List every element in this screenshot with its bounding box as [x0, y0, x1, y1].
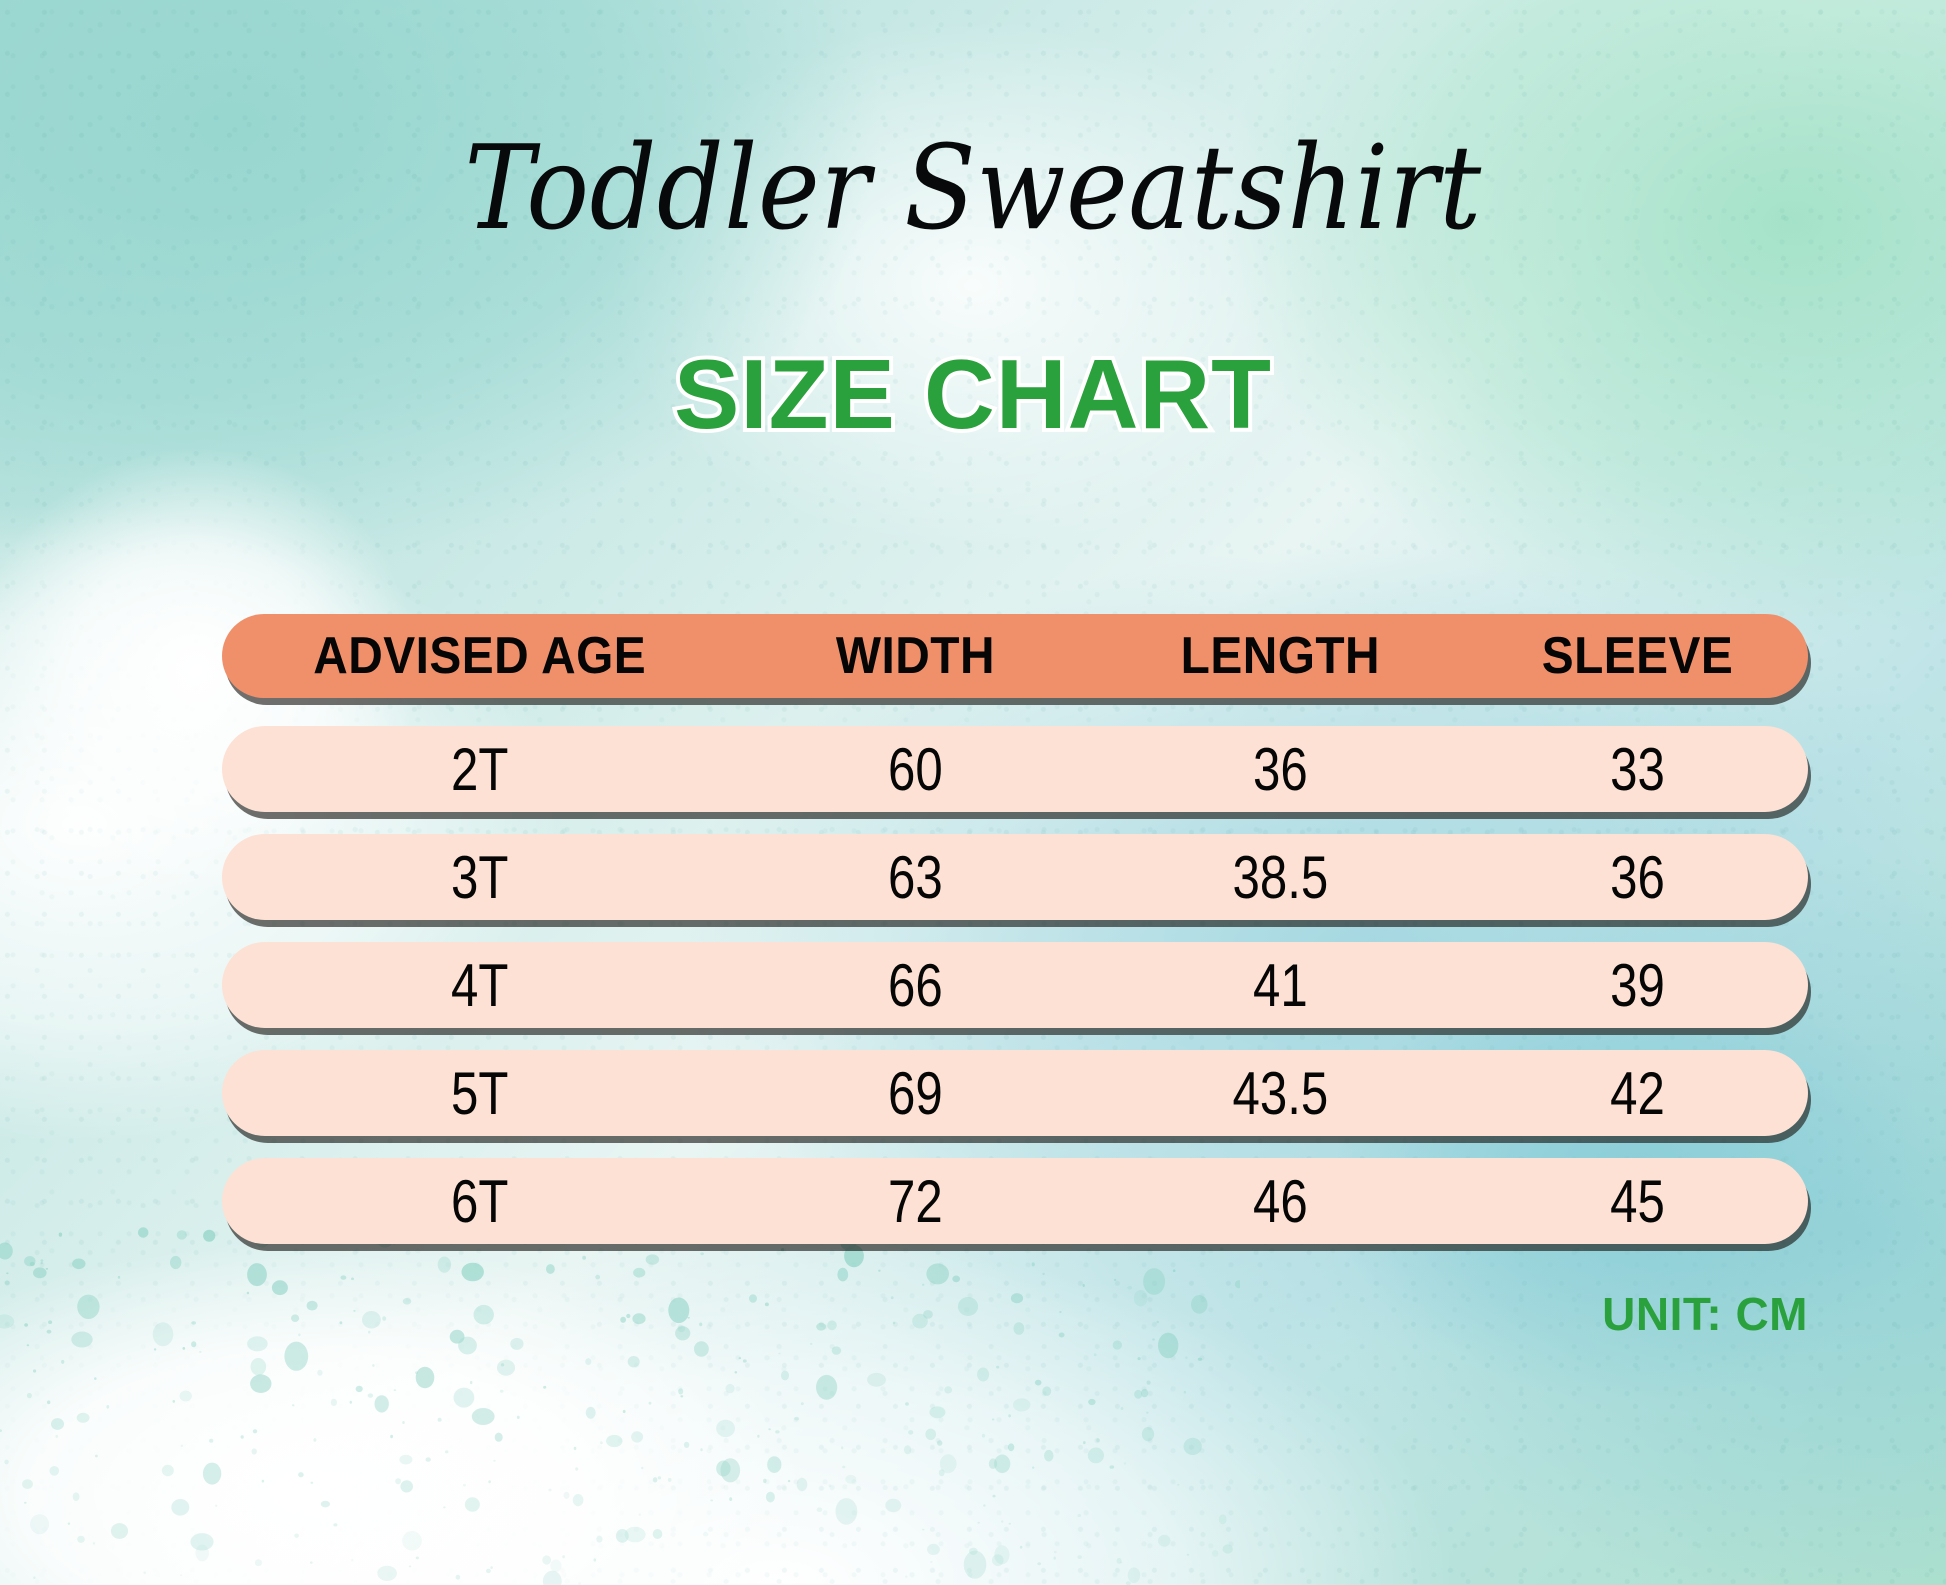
column-header-length: LENGTH	[1109, 626, 1452, 686]
cell-length: 38.5	[1128, 843, 1434, 912]
column-header-width: WIDTH	[752, 626, 1080, 686]
cell-advised-age: 5T	[268, 1059, 691, 1128]
cell-length: 36	[1128, 735, 1434, 804]
cell-advised-age: 2T	[268, 735, 691, 804]
cell-advised-age: 6T	[268, 1167, 691, 1236]
cell-width: 66	[770, 951, 1063, 1020]
cell-width: 72	[770, 1167, 1063, 1236]
cell-sleeve: 42	[1498, 1059, 1778, 1128]
cell-sleeve: 36	[1498, 843, 1778, 912]
cell-width: 63	[770, 843, 1063, 912]
table-row: 5T 69 43.5 42	[222, 1050, 1808, 1136]
table-row: 2T 60 36 33	[222, 726, 1808, 812]
table-row: 3T 63 38.5 36	[222, 834, 1808, 920]
cell-sleeve: 33	[1498, 735, 1778, 804]
cell-length: 46	[1128, 1167, 1434, 1236]
table-row: 4T 66 41 39	[222, 942, 1808, 1028]
cell-advised-age: 3T	[268, 843, 691, 912]
cell-sleeve: 45	[1498, 1167, 1778, 1236]
page-title: Toddler Sweatshirt	[97, 126, 1848, 251]
paint-splatter-decoration	[0, 1225, 1240, 1585]
size-chart-canvas: Toddler Sweatshirt SIZE CHART ADVISED AG…	[0, 0, 1946, 1585]
table-row: 6T 72 46 45	[222, 1158, 1808, 1244]
size-chart-table: ADVISED AGE WIDTH LENGTH SLEEVE 2T 60 36…	[222, 614, 1808, 1244]
cell-length: 41	[1128, 951, 1434, 1020]
cell-sleeve: 39	[1498, 951, 1778, 1020]
column-header-sleeve: SLEEVE	[1481, 626, 1795, 686]
cell-width: 69	[770, 1059, 1063, 1128]
cell-length: 43.5	[1128, 1059, 1434, 1128]
column-header-advised-age: ADVISED AGE	[243, 626, 717, 686]
cell-advised-age: 4T	[268, 951, 691, 1020]
unit-note: UNIT: CM	[1602, 1287, 1808, 1341]
cell-width: 60	[770, 735, 1063, 804]
table-header-row: ADVISED AGE WIDTH LENGTH SLEEVE	[222, 614, 1808, 698]
page-subtitle: SIZE CHART	[0, 345, 1946, 443]
